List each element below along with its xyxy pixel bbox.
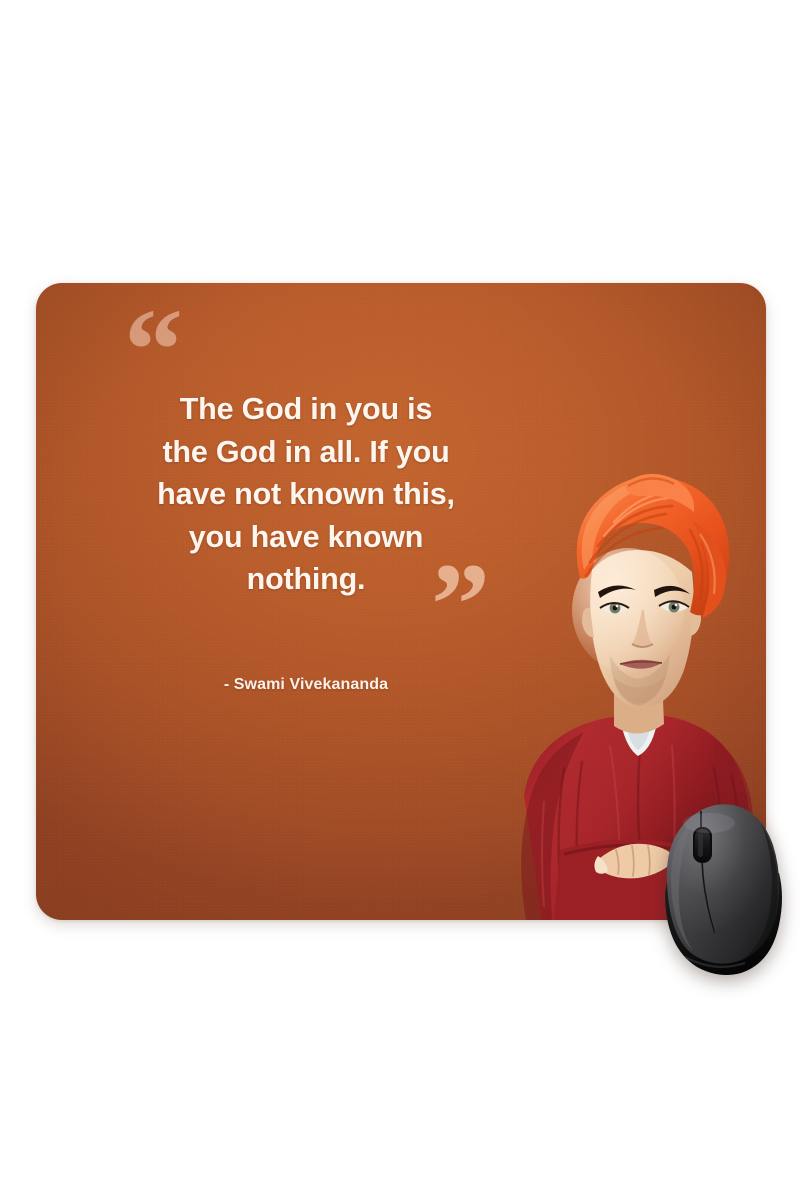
quote-line: the God in all. If you [96,431,516,474]
quote-author: - Swami Vivekananda [96,676,516,694]
product-stage: “ The God in you is the God in all. If y… [0,0,800,1200]
quote-line: The God in you is [96,388,516,431]
closing-quote-mark: ” [431,563,486,648]
quote-line: have not known this, [96,473,516,516]
wireless-mouse[interactable] [657,797,789,979]
opening-quote-mark: “ [124,308,179,393]
